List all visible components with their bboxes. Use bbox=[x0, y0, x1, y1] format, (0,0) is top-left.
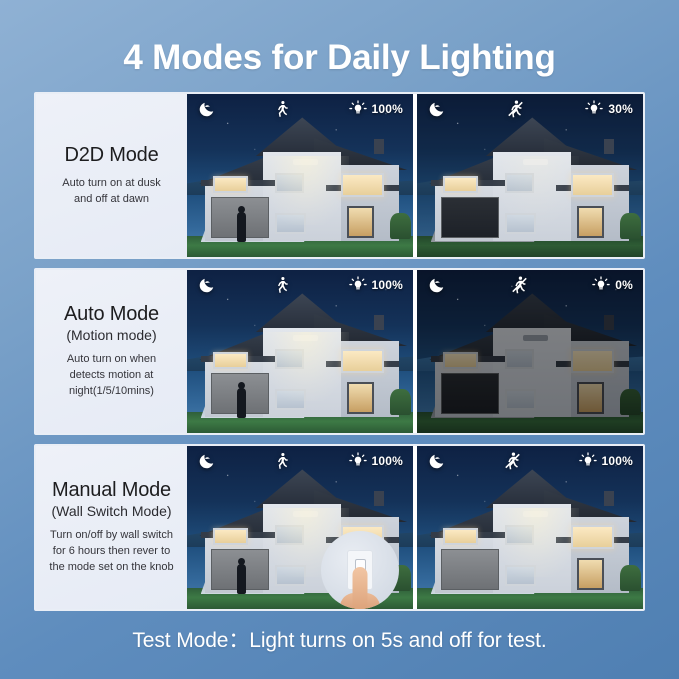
front-door bbox=[577, 558, 604, 590]
moon-icon bbox=[427, 452, 446, 471]
no-motion-icon bbox=[446, 275, 592, 295]
hedges bbox=[620, 389, 640, 415]
test-mode-text: Light turns on 5s and off for test. bbox=[249, 629, 546, 652]
footer-test-mode: Test Mode：Light turns on 5s and off for … bbox=[0, 624, 679, 654]
scene-icon-bar: 100% bbox=[187, 94, 413, 124]
security-light-fixture bbox=[523, 159, 548, 166]
house bbox=[435, 127, 629, 241]
walking-person-icon bbox=[216, 451, 349, 471]
front-door bbox=[577, 382, 604, 414]
scene-icon-bar: 30% bbox=[417, 94, 643, 124]
mode-title: D2D Mode bbox=[65, 144, 159, 167]
window bbox=[571, 173, 614, 197]
brightness-value: 100% bbox=[372, 102, 404, 116]
brightness-indicator: 30% bbox=[585, 100, 633, 118]
mode-description: Turn on/off by wall switch for 6 hours t… bbox=[49, 528, 173, 576]
window bbox=[571, 349, 614, 373]
chimney bbox=[374, 315, 384, 330]
scene-icon-bar: 100% bbox=[417, 446, 643, 476]
window bbox=[571, 525, 614, 549]
no-motion-icon bbox=[446, 451, 579, 471]
scene-icon-bar: 0% bbox=[417, 270, 643, 300]
brightness-value: 100% bbox=[602, 454, 634, 468]
brightness-value: 100% bbox=[372, 454, 404, 468]
mode-text-auto: Auto Mode (Motion mode) Auto turn on whe… bbox=[36, 270, 187, 433]
garage-door bbox=[441, 373, 499, 414]
hedges bbox=[620, 565, 640, 591]
house bbox=[435, 303, 629, 417]
scene-pair-d2d: 100% bbox=[187, 94, 643, 257]
scene-icon-bar: 100% bbox=[187, 270, 413, 300]
security-light-fixture bbox=[293, 159, 318, 166]
brightness-indicator: 100% bbox=[579, 452, 634, 470]
scene-d2d-right: 30% bbox=[417, 94, 643, 257]
garage-door bbox=[441, 197, 499, 238]
person-figure bbox=[237, 564, 246, 594]
window bbox=[505, 173, 534, 192]
house bbox=[435, 479, 629, 593]
window bbox=[275, 173, 304, 192]
window bbox=[505, 349, 534, 368]
window bbox=[443, 176, 478, 193]
wall-switch-callout[interactable] bbox=[321, 531, 399, 609]
mode-row-manual: Manual Mode (Wall Switch Mode) Turn on/o… bbox=[34, 444, 645, 611]
mode-row-auto: Auto Mode (Motion mode) Auto turn on whe… bbox=[34, 268, 645, 435]
mode-row-d2d: D2D Mode Auto turn on at dusk and off at… bbox=[34, 92, 645, 259]
window bbox=[341, 173, 384, 197]
brightness-value: 100% bbox=[372, 278, 404, 292]
walking-person-icon bbox=[216, 99, 349, 119]
window bbox=[443, 352, 478, 369]
security-light-fixture bbox=[293, 335, 318, 342]
window bbox=[275, 389, 306, 410]
window bbox=[505, 213, 536, 234]
hedges bbox=[390, 389, 410, 415]
window bbox=[275, 213, 306, 234]
moon-icon bbox=[197, 276, 216, 295]
window bbox=[505, 525, 534, 544]
test-mode-label: Test Mode： bbox=[132, 629, 249, 652]
mode-description: Auto turn on when detects motion at nigh… bbox=[67, 352, 156, 400]
window bbox=[505, 389, 536, 410]
scene-auto-left: 100% bbox=[187, 270, 413, 433]
walking-person-icon bbox=[216, 275, 349, 295]
window bbox=[275, 565, 306, 586]
window bbox=[213, 352, 248, 369]
window bbox=[275, 349, 304, 368]
mode-title: Manual Mode bbox=[52, 479, 171, 502]
scene-manual-right: 100% bbox=[417, 446, 643, 609]
garage-door bbox=[441, 549, 499, 590]
front-door bbox=[347, 382, 374, 414]
house bbox=[205, 127, 399, 241]
window bbox=[341, 349, 384, 373]
security-light-fixture bbox=[523, 511, 548, 518]
chimney bbox=[374, 491, 384, 506]
window bbox=[213, 528, 248, 545]
finger bbox=[353, 567, 368, 609]
moon-icon bbox=[197, 100, 216, 119]
no-motion-icon bbox=[446, 99, 585, 119]
security-light-fixture bbox=[523, 335, 548, 342]
brightness-indicator: 100% bbox=[349, 276, 404, 294]
page-title: 4 Modes for Daily Lighting bbox=[0, 0, 679, 78]
chimney bbox=[374, 139, 384, 154]
window bbox=[505, 565, 536, 586]
mode-description: Auto turn on at dusk and off at dawn bbox=[62, 176, 160, 208]
front-door bbox=[347, 206, 374, 238]
window bbox=[213, 176, 248, 193]
brightness-value: 30% bbox=[608, 102, 633, 116]
mode-text-d2d: D2D Mode Auto turn on at dusk and off at… bbox=[36, 94, 187, 257]
scene-auto-right: 0% bbox=[417, 270, 643, 433]
modes-list: D2D Mode Auto turn on at dusk and off at… bbox=[0, 92, 679, 611]
chimney bbox=[604, 491, 614, 506]
moon-icon bbox=[427, 276, 446, 295]
moon-icon bbox=[427, 100, 446, 119]
scene-pair-auto: 100% bbox=[187, 270, 643, 433]
mode-text-manual: Manual Mode (Wall Switch Mode) Turn on/o… bbox=[36, 446, 187, 609]
mode-subtitle: (Wall Switch Mode) bbox=[51, 503, 171, 520]
scene-manual-left: 100% bbox=[187, 446, 413, 609]
security-light-fixture bbox=[293, 511, 318, 518]
brightness-value: 0% bbox=[615, 278, 633, 292]
person-figure bbox=[237, 212, 246, 242]
mode-title: Auto Mode bbox=[64, 303, 159, 326]
scene-pair-manual: 100% bbox=[187, 446, 643, 609]
moon-icon bbox=[197, 452, 216, 471]
brightness-indicator: 100% bbox=[349, 452, 404, 470]
hedges bbox=[390, 213, 410, 239]
mode-subtitle: (Motion mode) bbox=[66, 327, 156, 344]
chimney bbox=[604, 315, 614, 330]
person-figure bbox=[237, 388, 246, 418]
brightness-indicator: 0% bbox=[592, 276, 633, 294]
scene-icon-bar: 100% bbox=[187, 446, 413, 476]
house bbox=[205, 303, 399, 417]
window bbox=[275, 525, 304, 544]
brightness-indicator: 100% bbox=[349, 100, 404, 118]
window bbox=[443, 528, 478, 545]
front-door bbox=[577, 206, 604, 238]
hedges bbox=[620, 213, 640, 239]
scene-d2d-left: 100% bbox=[187, 94, 413, 257]
chimney bbox=[604, 139, 614, 154]
